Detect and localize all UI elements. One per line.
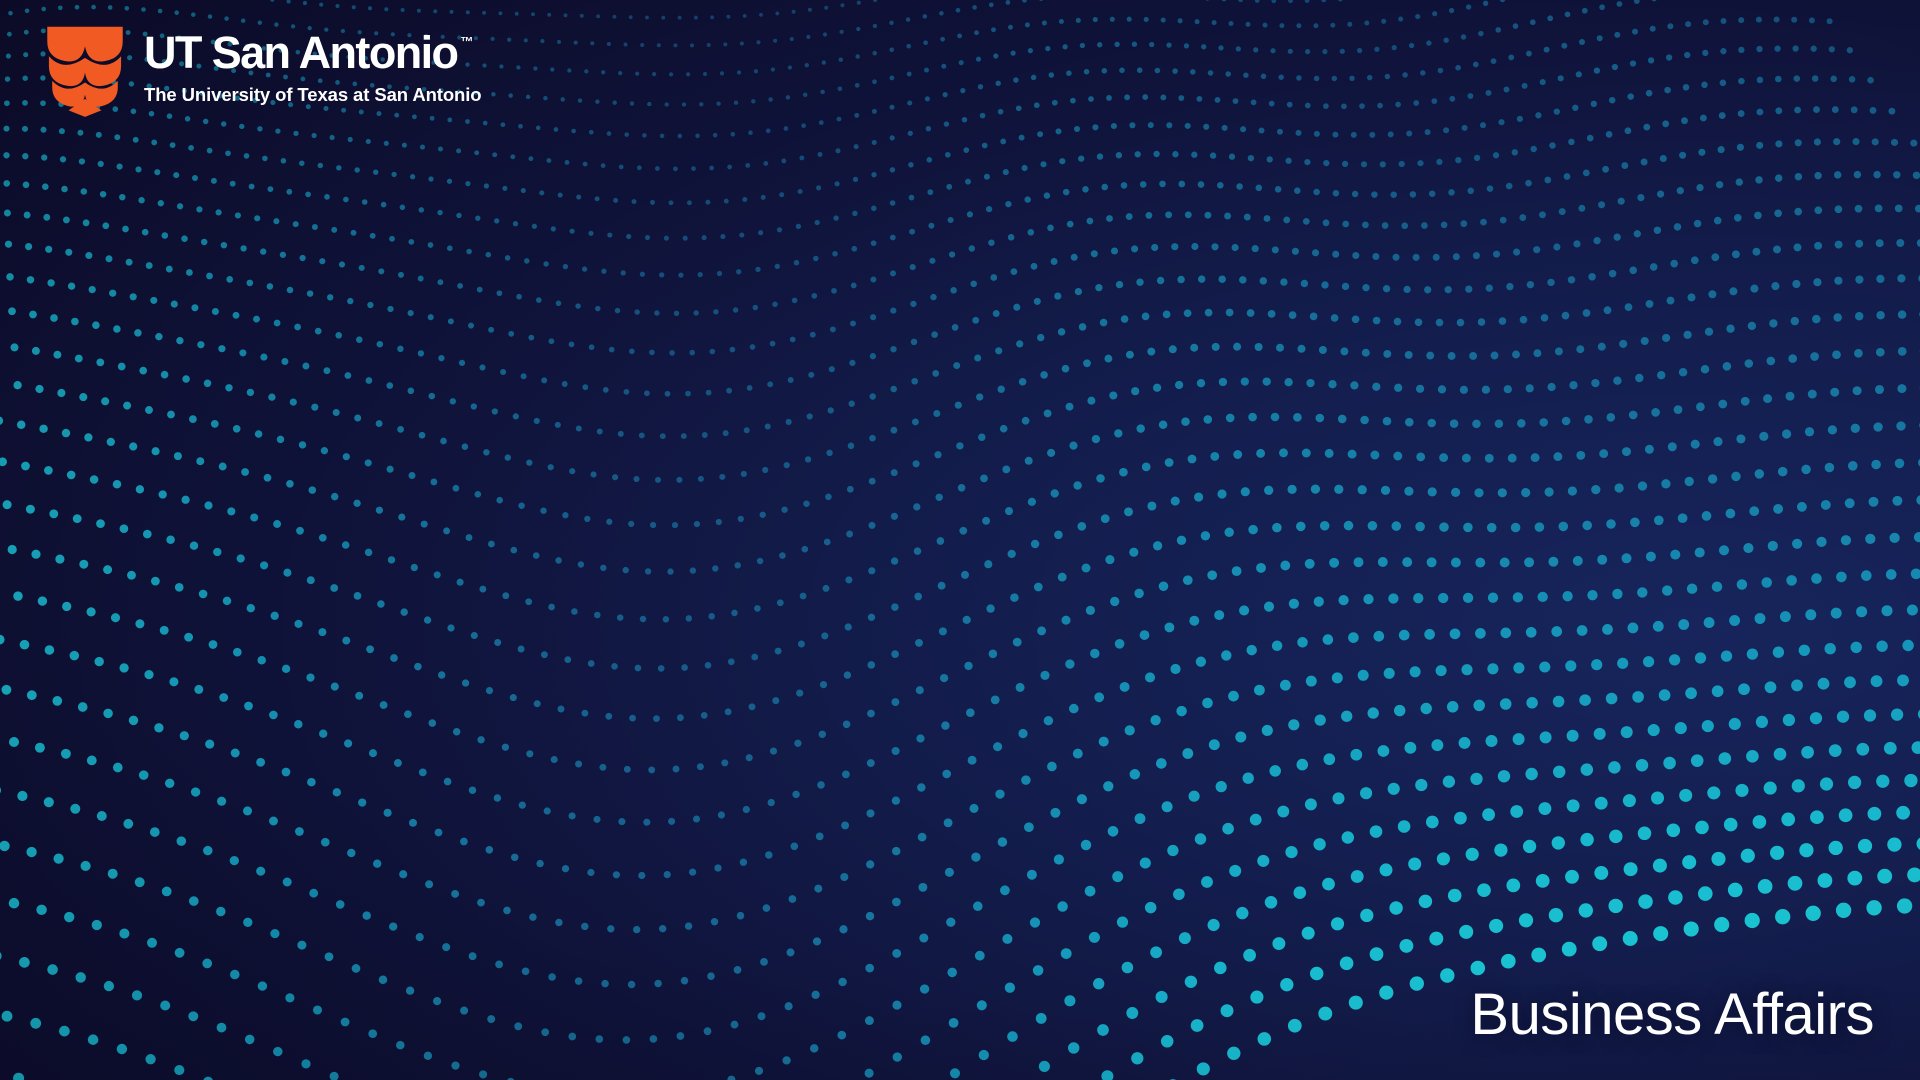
utsa-wordmark-text: UT San Antonio [144, 31, 457, 75]
dot-wave-graphic [0, 0, 1920, 1080]
utsa-wordmark: UT San Antonio ™ [144, 31, 481, 75]
utsa-wordmark-block: UT San Antonio ™ The University of Texas… [144, 25, 481, 106]
utsa-shield-icon [44, 25, 126, 117]
utsa-tagline: The University of Texas at San Antonio [144, 84, 481, 106]
trademark-symbol: ™ [460, 35, 473, 48]
utsa-logo[interactable]: UT San Antonio ™ The University of Texas… [44, 25, 481, 117]
slide-canvas: UT San Antonio ™ The University of Texas… [0, 0, 1920, 1080]
page-title: Business Affairs [1470, 986, 1874, 1044]
